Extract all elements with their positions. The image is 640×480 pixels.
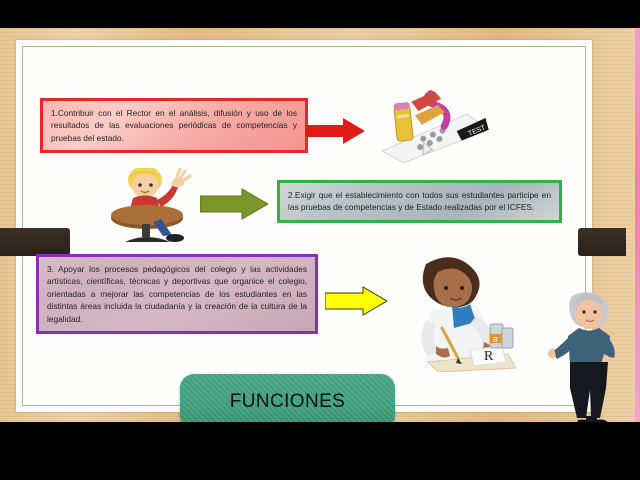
function-textbox-1[interactable]: 1.Contribuir con el Rector en el análisi… (40, 98, 308, 153)
funciones-title-chip[interactable]: FUNCIONES (180, 374, 395, 422)
exam-test-sheet-clipart: TEST (360, 88, 498, 164)
function-textbox-2[interactable]: 2.Exigir que el establecimiento con todo… (277, 180, 562, 223)
standing-woman-presenter-clipart (548, 290, 632, 422)
function-text-2: 2.Exigir que el establecimiento con todo… (288, 189, 551, 214)
function-textbox-3[interactable]: 3. Apoyar los procesos pedagógicos del c… (36, 254, 318, 334)
decorative-banner-left (0, 228, 70, 256)
woman-writing-clipart: R B (398, 250, 518, 372)
letterbox-top (0, 0, 640, 28)
svg-text:R: R (484, 349, 494, 364)
svg-text:B: B (493, 337, 498, 344)
slide-canvas: TEST (0, 28, 640, 422)
function-text-3: 3. Apoyar los procesos pedagógicos del c… (47, 263, 307, 325)
letterbox-bottom (0, 422, 640, 480)
function-text-1: 1.Contribuir con el Rector en el análisi… (51, 107, 297, 144)
yellow-arrow (325, 286, 387, 316)
decorative-banner-right (578, 228, 626, 256)
green-arrow (200, 188, 268, 220)
red-arrow (305, 118, 365, 144)
presentation-viewer: TEST (0, 0, 640, 480)
slide-right-accent-edge (635, 28, 640, 422)
funciones-label: FUNCIONES (230, 391, 346, 413)
student-raising-hand-clipart (95, 168, 200, 246)
